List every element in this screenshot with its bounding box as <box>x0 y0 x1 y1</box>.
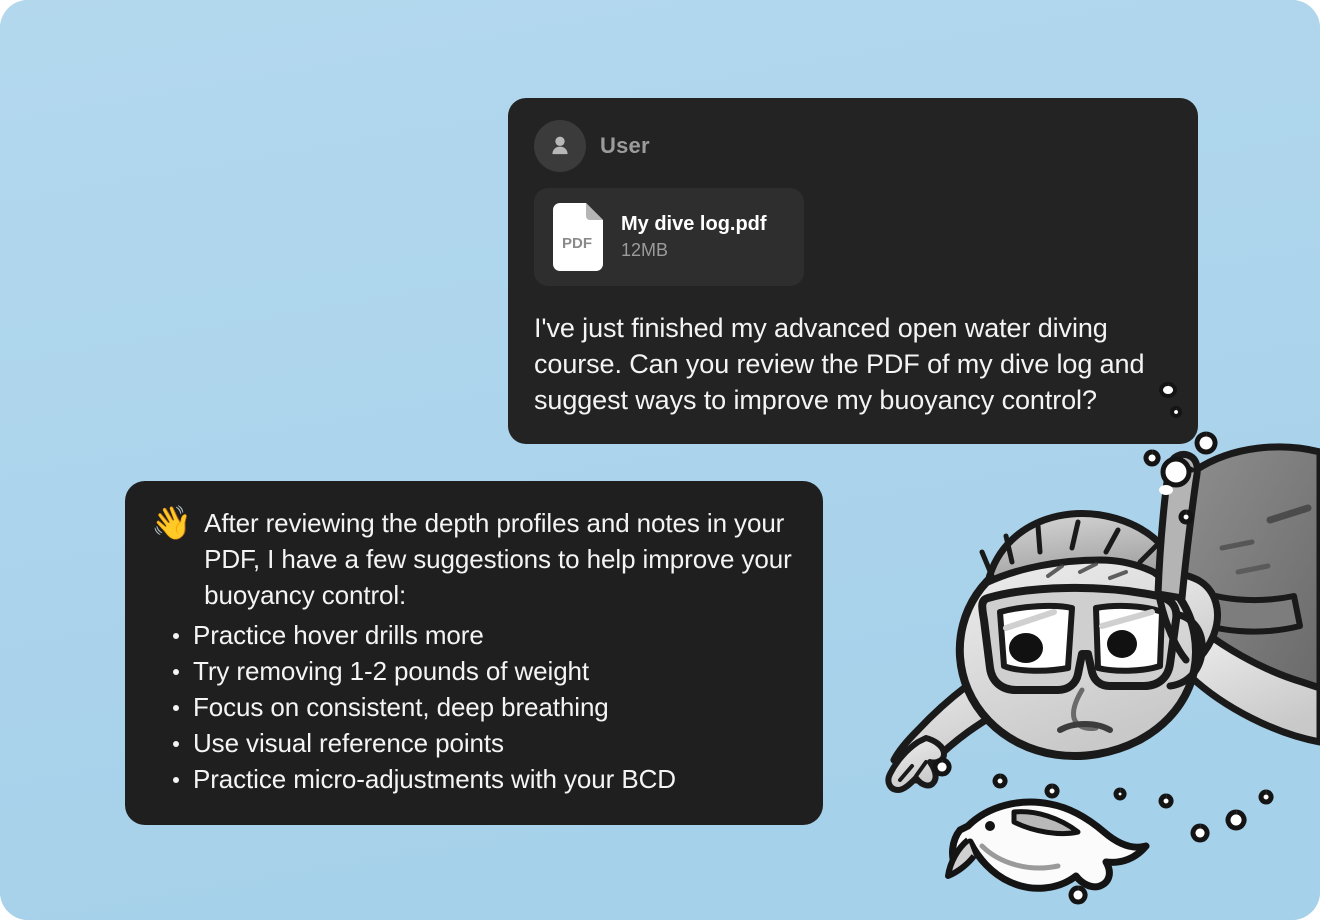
list-item: Focus on consistent, deep breathing <box>193 689 797 725</box>
user-message-header: User <box>534 120 1172 172</box>
attachment-size: 12MB <box>621 240 767 261</box>
scene-canvas: User PDF My dive log.pdf 12MB I've just … <box>0 0 1320 920</box>
diver-figure <box>888 447 1320 790</box>
assistant-intro-text: After reviewing the depth profiles and n… <box>204 505 797 613</box>
fish-illustration <box>948 802 1146 888</box>
user-author-name: User <box>600 133 650 159</box>
waving-hand-emoji: 👋 <box>151 505 192 541</box>
list-item: Practice hover drills more <box>193 617 797 653</box>
assistant-message-bubble: 👋 After reviewing the depth profiles and… <box>125 481 823 825</box>
person-icon <box>546 132 574 160</box>
avatar <box>534 120 586 172</box>
list-item: Use visual reference points <box>193 725 797 761</box>
suggestions-list: Practice hover drills more Try removing … <box>151 617 797 797</box>
attachment-meta: My dive log.pdf 12MB <box>621 213 767 261</box>
user-message-text: I've just finished my advanced open wate… <box>534 310 1172 418</box>
list-item: Practice micro-adjustments with your BCD <box>193 761 797 797</box>
pdf-file-icon: PDF <box>550 203 606 271</box>
assistant-intro-row: 👋 After reviewing the depth profiles and… <box>151 505 797 613</box>
air-bubbles-background <box>935 434 1271 902</box>
pdf-icon-label: PDF <box>562 235 592 252</box>
user-message-bubble: User PDF My dive log.pdf 12MB I've just … <box>508 98 1198 444</box>
pdf-attachment-card[interactable]: PDF My dive log.pdf 12MB <box>534 188 804 286</box>
list-item: Try removing 1-2 pounds of weight <box>193 653 797 689</box>
attachment-name: My dive log.pdf <box>621 213 767 236</box>
